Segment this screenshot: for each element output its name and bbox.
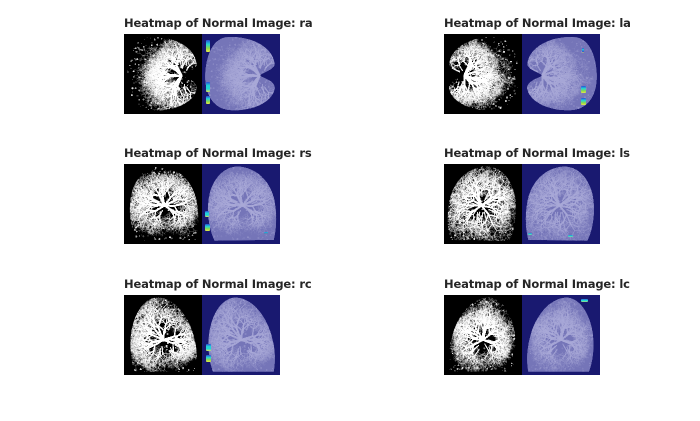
image-pair-la <box>444 34 600 114</box>
heatmap-hotspot <box>568 235 573 237</box>
image-pair-rs <box>124 164 280 244</box>
heatmap-hotspot <box>582 48 584 53</box>
panel-image-heat <box>522 34 600 114</box>
heatmap-hotspot <box>205 224 210 231</box>
heatmap-hotspot <box>581 86 586 93</box>
panel-image-gray <box>444 295 522 375</box>
heatmap-hotspot <box>528 233 532 235</box>
heatmap-hotspot <box>206 355 211 362</box>
grayscale-panel-rc <box>124 295 202 375</box>
panel-image-gray <box>124 295 202 375</box>
subplot-title-lc: Heatmap of Normal Image: lc <box>444 277 630 291</box>
subplot-title-la: Heatmap of Normal Image: la <box>444 16 631 30</box>
subplot-lc: Heatmap of Normal Image: lc <box>444 277 630 375</box>
grayscale-panel-ra <box>124 34 202 114</box>
grayscale-panel-la <box>444 34 522 114</box>
panel-image-heat <box>202 164 280 244</box>
image-pair-ra <box>124 34 280 114</box>
heatmap-hotspot <box>206 344 211 351</box>
subplot-title-ra: Heatmap of Normal Image: ra <box>124 16 313 30</box>
panel-image-heat <box>522 164 600 244</box>
heatmap-panel-rs <box>202 164 280 244</box>
heatmap-hotspot <box>581 98 586 105</box>
heatmap-panel-la <box>522 34 600 114</box>
grayscale-panel-lc <box>444 295 522 375</box>
heatmap-hotspot <box>205 211 209 217</box>
image-pair-rc <box>124 295 280 375</box>
panel-image-heat <box>202 34 280 114</box>
panel-image-gray <box>124 34 202 114</box>
subplot-rs: Heatmap of Normal Image: rs <box>124 146 312 244</box>
figure-canvas: Heatmap of Normal Image: raHeatmap of No… <box>0 0 700 421</box>
heatmap-panel-ra <box>202 34 280 114</box>
heatmap-hotspot <box>206 96 210 104</box>
subplot-title-rc: Heatmap of Normal Image: rc <box>124 277 312 291</box>
panel-image-heat <box>522 295 600 375</box>
heatmap-hotspot <box>264 232 268 234</box>
grayscale-panel-rs <box>124 164 202 244</box>
subplot-la: Heatmap of Normal Image: la <box>444 16 631 114</box>
image-pair-lc <box>444 295 600 375</box>
grayscale-panel-ls <box>444 164 522 244</box>
subplot-rc: Heatmap of Normal Image: rc <box>124 277 312 375</box>
subplot-ra: Heatmap of Normal Image: ra <box>124 16 313 114</box>
heatmap-hotspot <box>206 40 210 52</box>
image-pair-ls <box>444 164 600 244</box>
panel-image-heat <box>202 295 280 375</box>
subplot-title-ls: Heatmap of Normal Image: ls <box>444 146 630 160</box>
panel-image-gray <box>444 34 522 114</box>
heatmap-panel-lc <box>522 295 600 375</box>
heatmap-panel-rc <box>202 295 280 375</box>
heatmap-panel-ls <box>522 164 600 244</box>
panel-image-gray <box>444 164 522 244</box>
panel-image-gray <box>124 164 202 244</box>
subplot-title-rs: Heatmap of Normal Image: rs <box>124 146 312 160</box>
subplot-ls: Heatmap of Normal Image: ls <box>444 146 630 244</box>
heatmap-hotspot <box>206 82 210 92</box>
heatmap-hotspot <box>581 299 588 302</box>
